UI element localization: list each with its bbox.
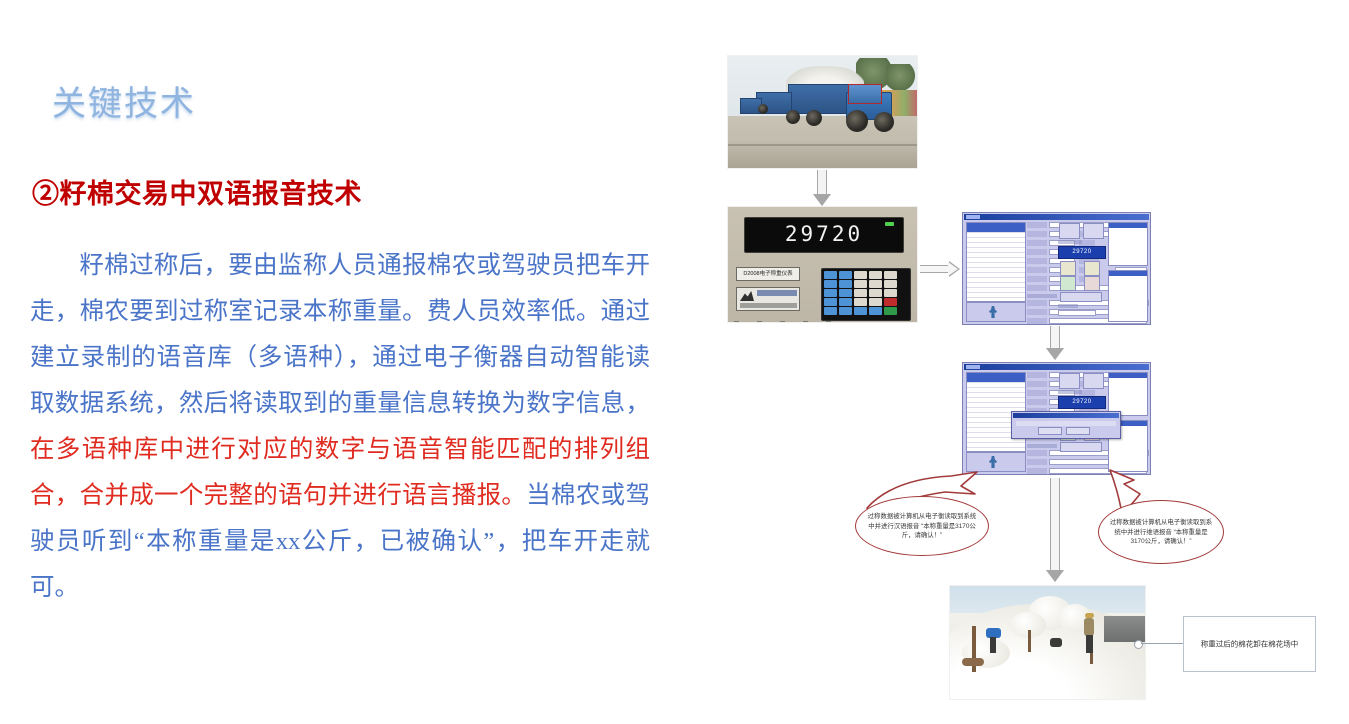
connector-line [1141, 643, 1183, 644]
tree [886, 64, 916, 90]
software-window-weighing-2[interactable]: 29720 [962, 362, 1151, 475]
indicator-display: 29720 [744, 217, 904, 253]
arrow-head [949, 261, 960, 277]
side-pane-upper[interactable] [1108, 222, 1148, 266]
callout-chinese: 过称数据被计算机从电子衡读取到系统中并进行汉语报音 “本称重量是3170公斤，请… [855, 496, 989, 556]
broadcast-button[interactable] [1060, 442, 1102, 452]
worker-hat [1085, 613, 1094, 618]
trailer-wheel [758, 104, 768, 114]
weight-display: 29720 [1058, 246, 1106, 259]
side-pane-caption [1109, 373, 1147, 378]
side-pane-caption [1109, 223, 1147, 228]
arrow-software2-to-cotton [1046, 478, 1064, 582]
logo-text-line [740, 303, 797, 308]
operator-avatar [966, 302, 1026, 322]
software-window-weighing-1[interactable]: 29720 [962, 212, 1151, 325]
weighbridge-edge [728, 144, 917, 146]
window-titlebar [964, 364, 1149, 370]
action-button[interactable] [1059, 373, 1080, 389]
action-button[interactable] [1083, 223, 1104, 239]
person-icon [989, 456, 997, 468]
weight-display-value: 29720 [1059, 397, 1105, 408]
callout-uyghur: 过称数据被计算机从电子衡读取到系统中并进行维语报音 “本称重量是3170公斤，请… [1098, 500, 1224, 564]
annunciator-dot [757, 321, 762, 322]
broadcast-button[interactable] [1060, 292, 1102, 302]
window-title-text [966, 215, 980, 219]
records-list[interactable] [966, 222, 1026, 302]
weight-display-value: 29720 [1059, 247, 1105, 258]
indicator-nameplate-text: D2008电子称重仪表 [737, 268, 799, 280]
tool-icon[interactable] [1060, 261, 1076, 276]
arrow-shaft [1050, 326, 1060, 348]
dialog-titlebar [1013, 413, 1119, 418]
window-title-text [966, 365, 980, 369]
tool-icon[interactable] [1084, 276, 1100, 291]
fence-post [1028, 630, 1031, 652]
arrow-head [1046, 570, 1064, 582]
actions-panel[interactable]: 29720 [1058, 222, 1106, 322]
action-button[interactable] [1083, 373, 1104, 389]
indicator-digits: 29720 [745, 222, 903, 246]
callout-uyghur-text: 过称数据被计算机从电子衡读取到系统中并进行维语报音 “本称重量是3170公斤，请… [1109, 518, 1213, 547]
road [728, 137, 917, 168]
process-diagram: 29720 D2008电子称重仪表 [700, 0, 1349, 724]
tractor-wheel [874, 112, 894, 132]
side-panels[interactable] [1108, 222, 1148, 322]
dialog-cancel-button[interactable] [1066, 427, 1090, 435]
callout-chinese-text: 过称数据被计算机从电子衡读取到系统中并进行汉语报音 “本称重量是3170公斤，请… [867, 512, 978, 541]
worker-legs [1086, 635, 1093, 653]
body-segment-1: 籽棉过称后，要由监称人员通报棉农或驾驶员把车开走，棉农要到过称室记录本称重量。费… [30, 252, 650, 417]
section-subheading: ②籽棉交易中双语报音技术 [32, 172, 362, 211]
arrow-truck-to-device [813, 170, 831, 206]
indicator-status-led [885, 222, 894, 226]
body-paragraph: 籽棉过称后，要由监称人员通报棉农或驾驶员把车开走，棉农要到过称室记录本称重量。费… [30, 243, 650, 611]
annunciator-dot [734, 321, 739, 322]
tractor-wheel [846, 110, 868, 132]
action-button[interactable] [1059, 223, 1080, 239]
dialog-ok-button[interactable] [1038, 427, 1062, 435]
arrow-device-to-software [920, 261, 960, 277]
connector-dot [1134, 640, 1143, 649]
note-textbox: 称重过后的棉花卸在棉花场中 [1183, 616, 1316, 672]
page-title: 关键技术 [52, 76, 196, 125]
indicator-keypad[interactable] [821, 268, 911, 321]
tool-icon[interactable] [1060, 276, 1076, 291]
annunciator-dot [803, 321, 808, 322]
arrow-head [1046, 348, 1064, 360]
window-titlebar [964, 214, 1149, 220]
worker-tan-shirt [1084, 618, 1094, 636]
photo-truck-weighbridge [728, 56, 917, 168]
arrow-shaft [817, 170, 827, 194]
indicator-nameplate: D2008电子称重仪表 [736, 267, 800, 281]
photo-cotton-yard [950, 586, 1145, 699]
tractor-cab [848, 84, 882, 104]
worker-crouching [1050, 638, 1062, 647]
side-pane-caption [1109, 271, 1147, 276]
shed-structure [1104, 616, 1145, 642]
arrow-shaft [1050, 478, 1060, 570]
side-pane-upper[interactable] [1108, 372, 1148, 416]
person-icon [989, 306, 997, 318]
slide-root: 关键技术 ②籽棉交易中双语报音技术 籽棉过称后，要由监称人员通报棉农或驾驶员把车… [0, 0, 1349, 724]
trailer-wheel [806, 110, 822, 126]
note-textbox-text: 称重过后的棉花卸在棉花场中 [1192, 639, 1307, 650]
photo-weighing-indicator: 29720 D2008电子称重仪表 [728, 207, 917, 322]
annunciator-dot [826, 321, 831, 322]
arrow-software1-to-software2 [1046, 326, 1064, 360]
worker-lying [962, 658, 984, 666]
dialog-message [1016, 421, 1116, 426]
tool-icon[interactable] [1084, 261, 1100, 276]
trailer-wheel [786, 110, 800, 124]
manufacturer-logo [736, 287, 800, 311]
logo-mark-icon [740, 291, 754, 301]
annunciator-dot [780, 321, 785, 322]
operator-avatar [966, 452, 1026, 472]
arrow-shaft [920, 265, 949, 273]
logo-text-line [757, 290, 797, 296]
confirm-dialog[interactable] [1011, 411, 1121, 439]
weight-display: 29720 [1058, 396, 1106, 409]
arrow-head [813, 194, 831, 206]
worker-legs [990, 637, 996, 653]
side-pane-lower[interactable] [1108, 270, 1148, 322]
